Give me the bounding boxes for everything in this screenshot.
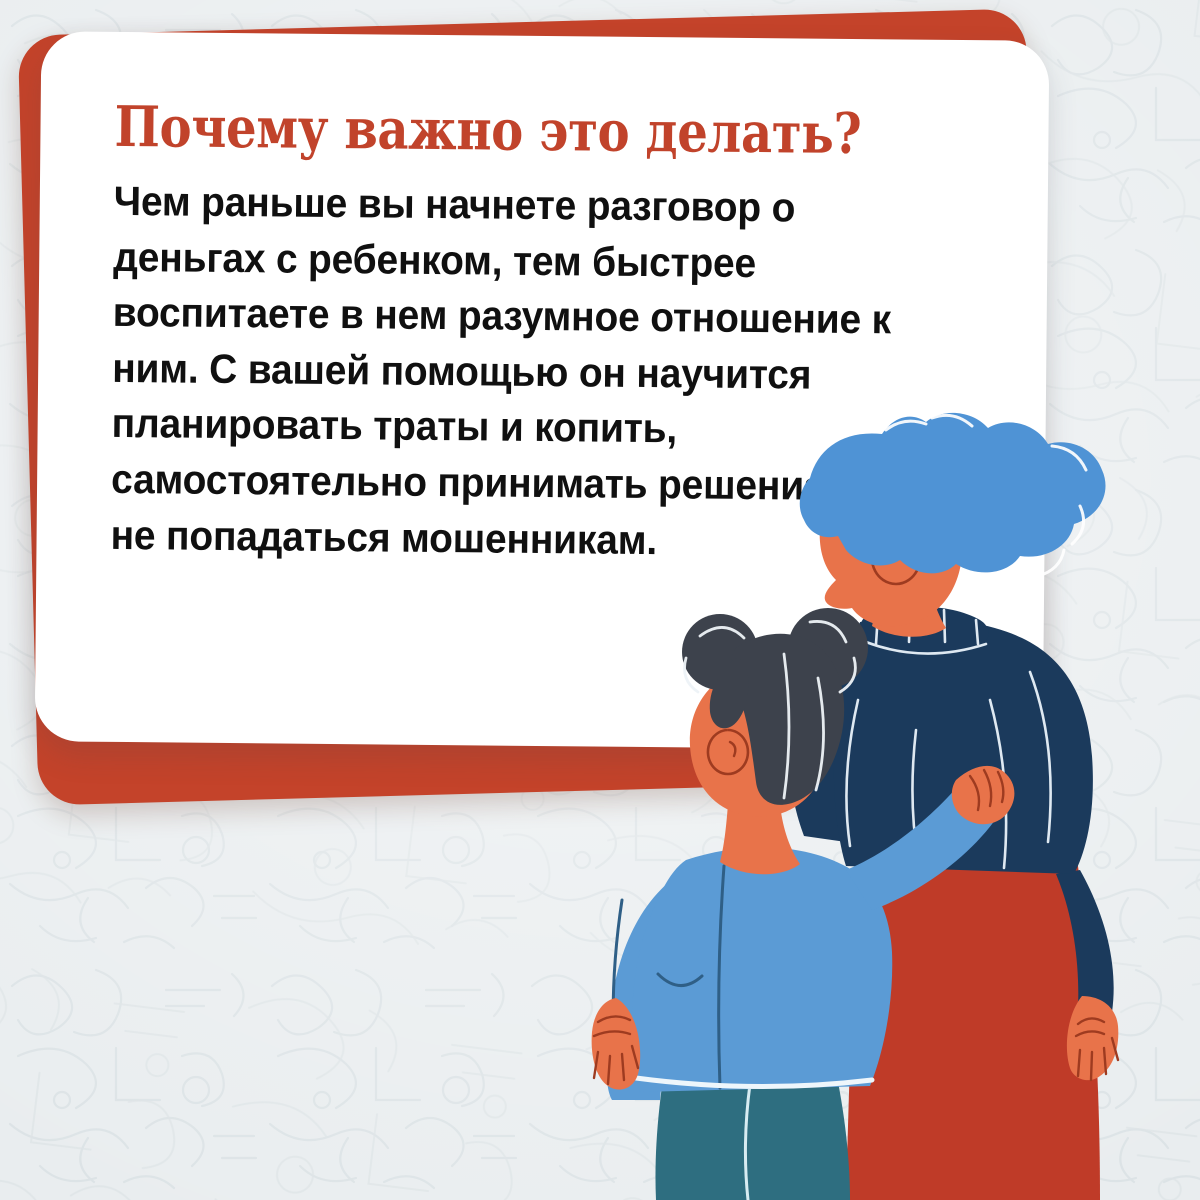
page-title: Почему важно это делать?	[114, 98, 854, 163]
poster-canvas: Почему важно это делать? Чем раньше вы н…	[0, 0, 1200, 1200]
content-card: Почему важно это делать? Чем раньше вы н…	[35, 31, 1050, 751]
card-body-text: Чем раньше вы начнете разговор о деньгах…	[110, 174, 893, 570]
